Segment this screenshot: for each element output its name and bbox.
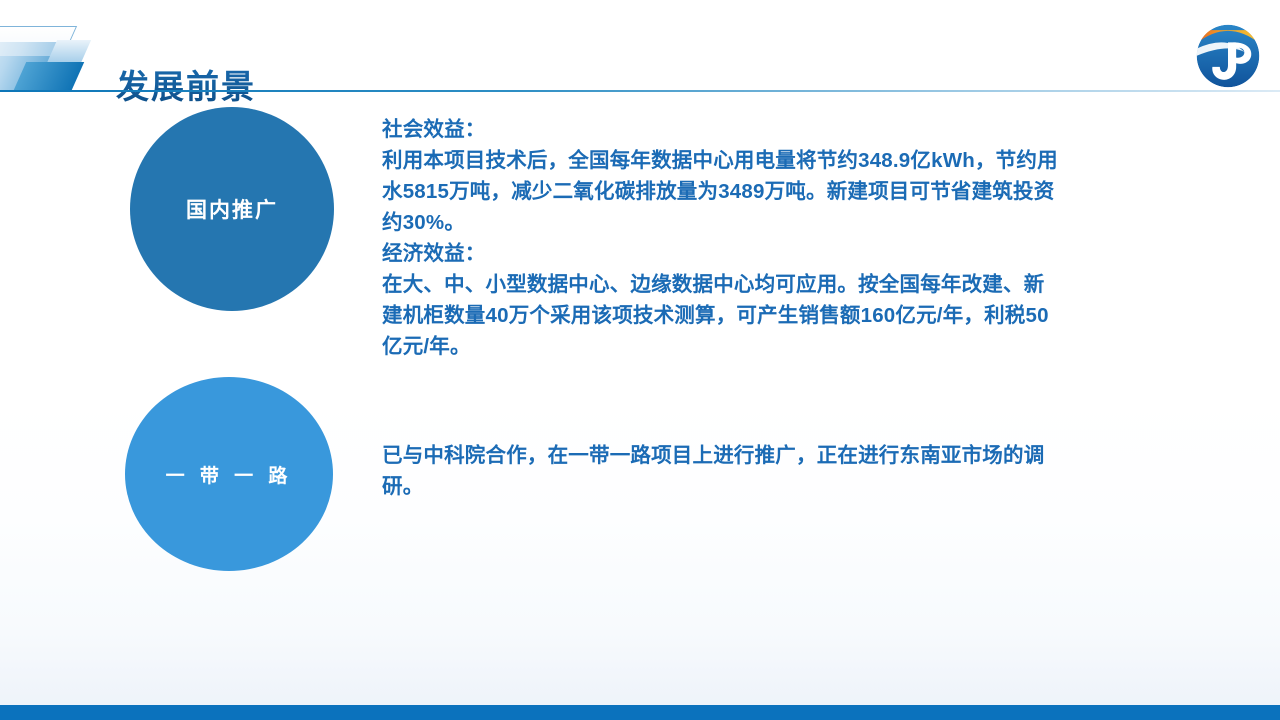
benefits-text-block: 社会效益： 利用本项目技术后，全国每年数据中心用电量将节约348.9亿kWh，节…	[382, 114, 1058, 362]
bubble-belt-and-road-label: 一 带 一 路	[166, 461, 293, 488]
slide-root: 发展前景	[0, 0, 1280, 720]
bubble-domestic-promotion: 国内推广	[130, 107, 334, 311]
bubble-belt-and-road: 一 带 一 路	[125, 377, 333, 571]
economic-benefit-body: 在大、中、小型数据中心、边缘数据中心均可应用。按全国每年改建、新建机柜数量40万…	[382, 269, 1058, 362]
company-logo	[1194, 22, 1262, 90]
page-title: 发展前景	[116, 60, 256, 108]
bubble-domestic-promotion-label: 国内推广	[186, 194, 278, 224]
slide-header: 发展前景	[0, 0, 1280, 92]
economic-benefit-heading: 经济效益：	[382, 238, 1058, 269]
belt-road-body: 已与中科院合作，在一带一路项目上进行推广，正在进行东南亚市场的调研。	[382, 440, 1058, 502]
social-benefit-body: 利用本项目技术后，全国每年数据中心用电量将节约348.9亿kWh，节约用水581…	[382, 145, 1058, 238]
decor-wedge-lower	[14, 62, 84, 90]
footer-bar	[0, 705, 1280, 720]
header-divider	[0, 90, 1280, 92]
belt-and-road-text-block: 已与中科院合作，在一带一路项目上进行推广，正在进行东南亚市场的调研。	[382, 440, 1058, 502]
social-benefit-heading: 社会效益：	[382, 114, 1058, 145]
